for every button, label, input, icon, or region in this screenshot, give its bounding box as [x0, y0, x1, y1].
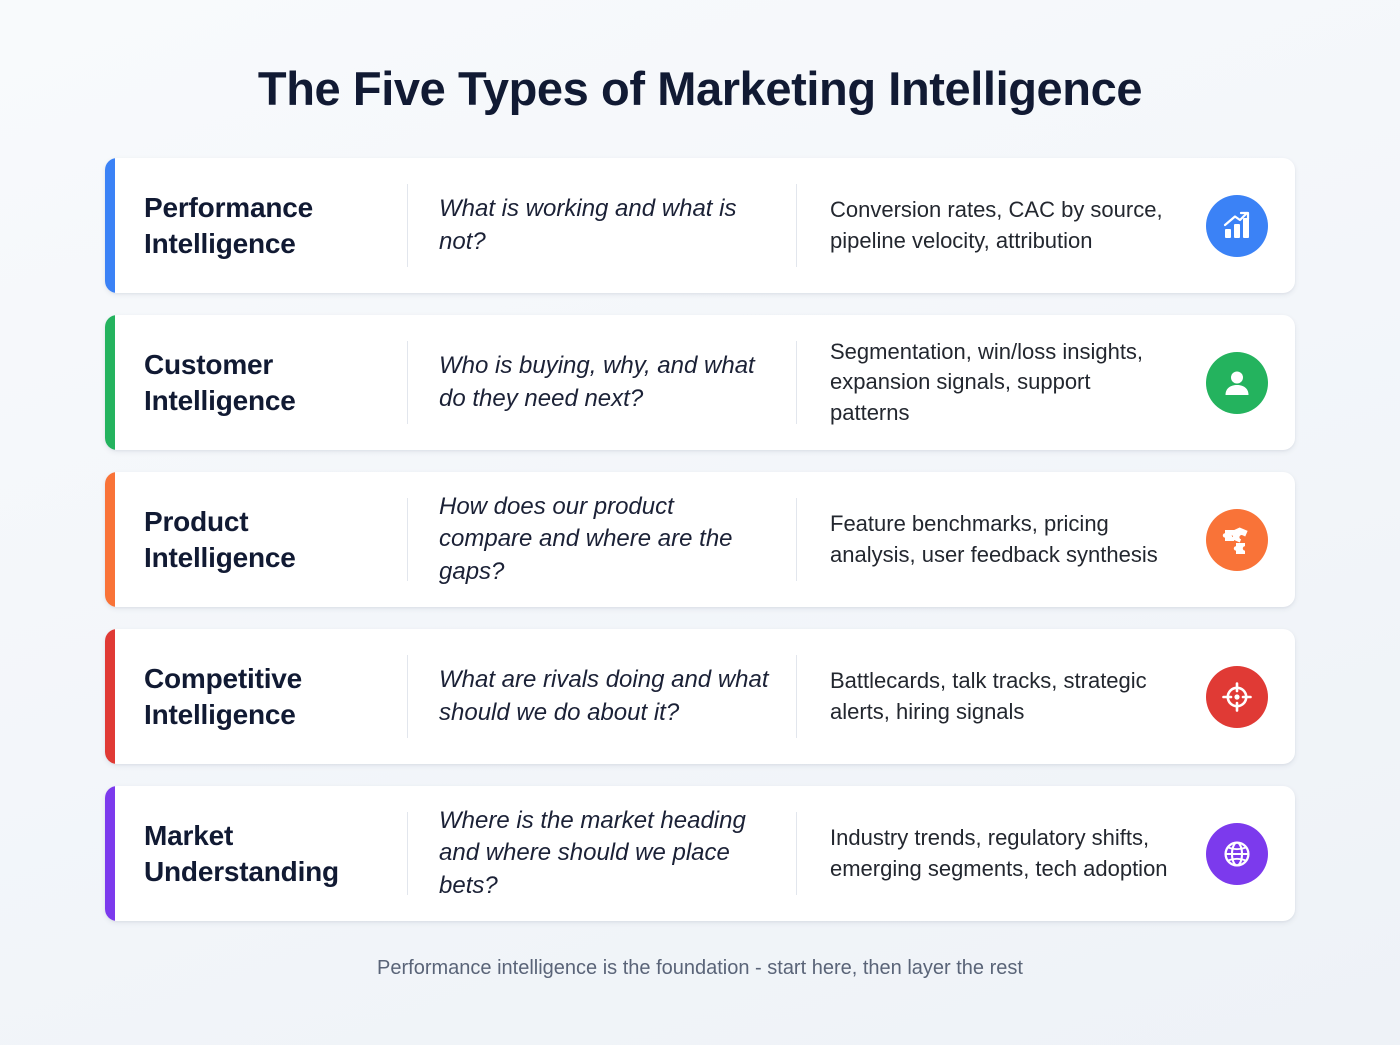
- type-examples: Battlecards, talk tracks, strategic aler…: [830, 666, 1169, 727]
- icon-badge: [1206, 195, 1268, 257]
- type-question-cell: Who is buying, why, and what do they nee…: [408, 315, 796, 450]
- type-examples: Feature benchmarks, pricing analysis, us…: [830, 509, 1169, 570]
- type-examples-cell: Segmentation, win/loss insights, expansi…: [797, 315, 1179, 450]
- type-question: What is working and what is not?: [439, 193, 770, 257]
- type-title: Competitive Intelligence: [144, 661, 381, 732]
- type-title-cell: Competitive Intelligence: [115, 629, 407, 764]
- icon-badge: [1206, 352, 1268, 414]
- type-examples: Conversion rates, CAC by source, pipelin…: [830, 195, 1169, 256]
- type-question: What are rivals doing and what should we…: [439, 664, 770, 728]
- type-examples-cell: Feature benchmarks, pricing analysis, us…: [797, 472, 1179, 607]
- icon-badge: [1206, 823, 1268, 885]
- list-item: Market Understanding Where is the market…: [105, 786, 1295, 921]
- accent-bar: [105, 472, 115, 607]
- type-question-cell: What are rivals doing and what should we…: [408, 629, 796, 764]
- type-icon-cell: [1179, 315, 1295, 450]
- card-content: Performance Intelligence What is working…: [115, 158, 1295, 293]
- type-icon-cell: [1179, 786, 1295, 921]
- type-title: Market Understanding: [144, 818, 381, 889]
- type-examples-cell: Battlecards, talk tracks, strategic aler…: [797, 629, 1179, 764]
- icon-badge: [1206, 666, 1268, 728]
- type-icon-cell: [1179, 472, 1295, 607]
- list-item: Customer Intelligence Who is buying, why…: [105, 315, 1295, 450]
- type-title: Product Intelligence: [144, 504, 381, 575]
- card-content: Customer Intelligence Who is buying, why…: [115, 315, 1295, 450]
- type-title-cell: Market Understanding: [115, 786, 407, 921]
- type-question-cell: What is working and what is not?: [408, 158, 796, 293]
- accent-bar: [105, 629, 115, 764]
- type-icon-cell: [1179, 629, 1295, 764]
- type-title-cell: Performance Intelligence: [115, 158, 407, 293]
- accent-bar: [105, 786, 115, 921]
- accent-bar: [105, 158, 115, 293]
- type-examples: Industry trends, regulatory shifts, emer…: [830, 823, 1169, 884]
- card-content: Product Intelligence How does our produc…: [115, 472, 1295, 607]
- person-icon: [1220, 366, 1254, 400]
- icon-badge: [1206, 509, 1268, 571]
- card-content: Market Understanding Where is the market…: [115, 786, 1295, 921]
- type-examples-cell: Conversion rates, CAC by source, pipelin…: [797, 158, 1179, 293]
- type-title: Performance Intelligence: [144, 190, 381, 261]
- type-examples-cell: Industry trends, regulatory shifts, emer…: [797, 786, 1179, 921]
- list-item: Product Intelligence How does our produc…: [105, 472, 1295, 607]
- infographic-page: The Five Types of Marketing Intelligence…: [0, 0, 1400, 1045]
- type-title-cell: Product Intelligence: [115, 472, 407, 607]
- bar-chart-growth-icon: [1220, 209, 1254, 243]
- type-question: Where is the market heading and where sh…: [439, 805, 770, 901]
- list-item: Competitive Intelligence What are rivals…: [105, 629, 1295, 764]
- type-title-cell: Customer Intelligence: [115, 315, 407, 450]
- globe-icon: [1220, 837, 1254, 871]
- list-item: Performance Intelligence What is working…: [105, 158, 1295, 293]
- type-question-cell: How does our product compare and where a…: [408, 472, 796, 607]
- type-examples: Segmentation, win/loss insights, expansi…: [830, 337, 1169, 428]
- type-title: Customer Intelligence: [144, 347, 381, 418]
- type-question-cell: Where is the market heading and where sh…: [408, 786, 796, 921]
- card-content: Competitive Intelligence What are rivals…: [115, 629, 1295, 764]
- type-question: Who is buying, why, and what do they nee…: [439, 350, 770, 414]
- page-title: The Five Types of Marketing Intelligence: [258, 62, 1142, 116]
- crosshair-target-icon: [1220, 680, 1254, 714]
- footnote: Performance intelligence is the foundati…: [377, 957, 1023, 980]
- type-icon-cell: [1179, 158, 1295, 293]
- type-question: How does our product compare and where a…: [439, 491, 770, 587]
- intelligence-type-list: Performance Intelligence What is working…: [105, 158, 1295, 921]
- puzzle-pieces-icon: [1221, 524, 1253, 556]
- accent-bar: [105, 315, 115, 450]
